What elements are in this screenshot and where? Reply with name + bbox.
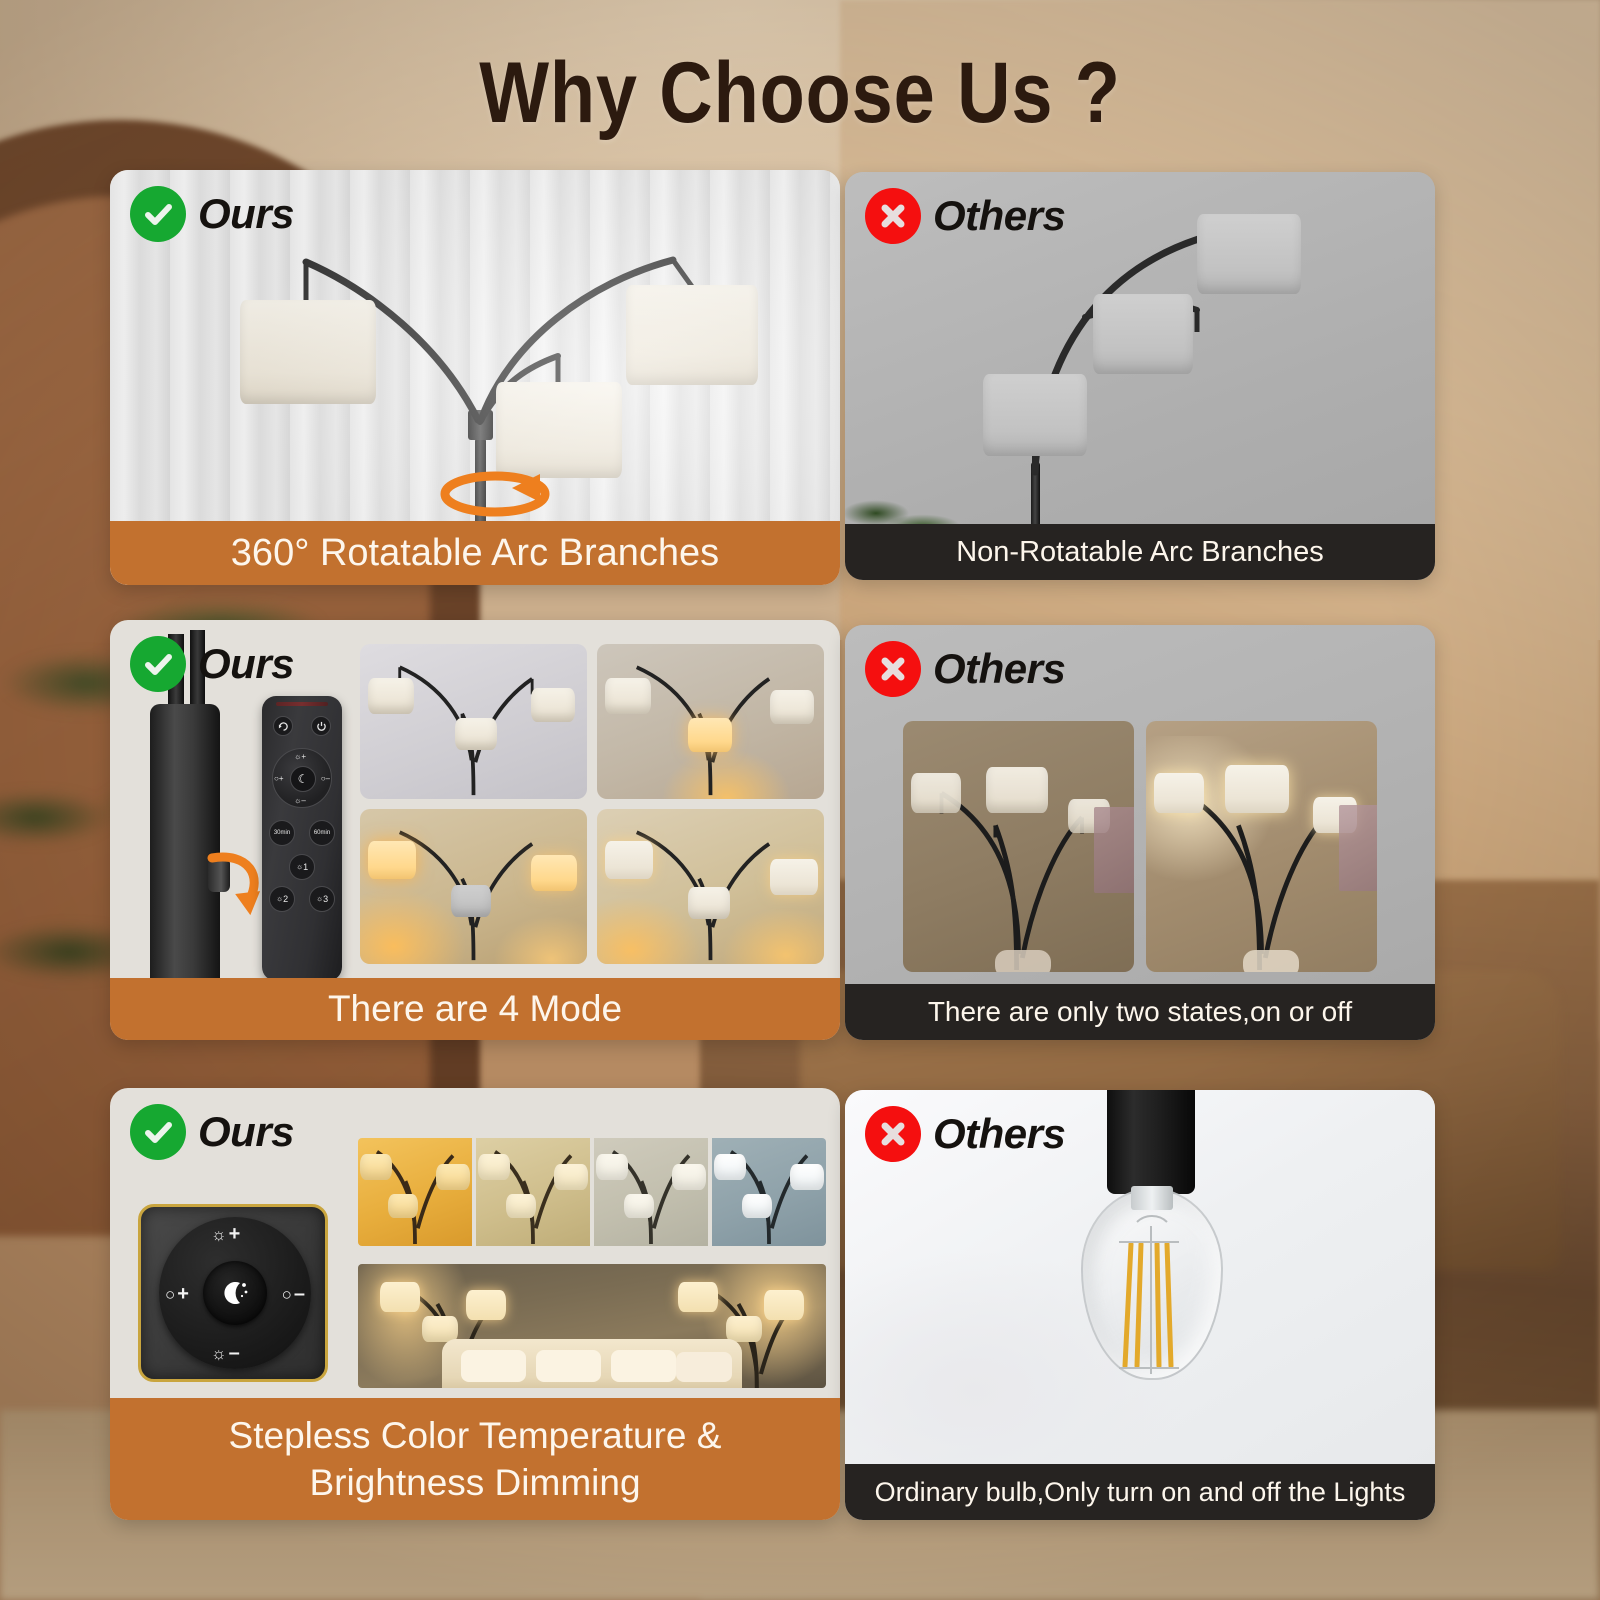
card-ours-stepless-dimming: ☼+ ☼– ○+ ○– [110,1088,840,1520]
badge-ours: Ours [130,636,294,692]
lamp-pole-assembly [142,660,228,1000]
remote-dial[interactable]: ☼+ ☼– ○+ ○– ☾ [272,748,332,808]
remote-brightness-up-icon[interactable]: ☼+ [294,752,306,761]
mode-photo-two-on [360,809,587,964]
remote-ir-window [276,702,328,706]
check-icon [130,636,186,692]
livingroom-photo [358,1264,826,1388]
dimmer-dial-module[interactable]: ☼+ ☼– ○+ ○– [138,1204,328,1382]
mode-photo-all-off [360,644,587,799]
badge-ours-label: Ours [198,1111,294,1153]
mode-photo-all-on [597,809,824,964]
remote-power-cycle-button[interactable] [273,716,293,736]
mode-photo-grid [360,644,824,964]
dial-color-temp-up-icon[interactable]: ○+ [165,1283,189,1306]
remote-mode-1-label: 1 [303,863,308,872]
card-others-nonrotatable: Others Non-Rotatable Arc Branches [845,172,1435,580]
card-others-two-states: Others There are only two states,on or o… [845,625,1435,1040]
cross-icon [865,641,921,697]
badge-ours: Ours [130,186,294,242]
bulb-socket [1107,1090,1195,1194]
dial-brightness-up-icon[interactable]: ☼+ [211,1223,240,1246]
badge-ours-label: Ours [198,193,294,235]
wall-art [1339,805,1377,891]
state-photo-on [1146,721,1377,972]
badge-ours: Ours [130,1104,294,1160]
remote-mode-1-button[interactable]: ☼1 [289,854,315,880]
remote-mode-3-button[interactable]: ☼3 [309,886,335,912]
remote-mode-3-label: 3 [323,895,328,904]
ct-photo-neutral [594,1138,708,1246]
cross-icon [865,188,921,244]
remote-power-button[interactable] [311,716,331,736]
lamp-shade-right [626,285,758,385]
card-ours-rotatable: Ours 360° Rotatable Arc Branches [110,170,840,585]
mode-photo-center-on [597,644,824,799]
state-photo-off [903,721,1134,972]
ct-photo-warm [476,1138,590,1246]
rotation-arrow-icon [430,458,560,528]
caption-ours-rotatable: 360° Rotatable Arc Branches [110,521,840,585]
lamp-shade-left [240,300,376,404]
dimmer-dial[interactable]: ☼+ ☼– ○+ ○– [159,1217,311,1369]
remote-color-temp-down-icon[interactable]: ○– [321,774,330,783]
bulb-base-contact [1131,1186,1173,1210]
remote-control[interactable]: ☼+ ☼– ○+ ○– ☾ 30min 60min ☼1 ☼2 ☼3 [262,696,342,981]
check-icon [130,1104,186,1160]
bulb-filament-icon [1093,1208,1213,1388]
remote-timer-60-label: 60min [314,830,330,836]
two-state-photo-grid [903,721,1377,972]
ct-photo-warmest [358,1138,472,1246]
card-others-ordinary-bulb: Others Ordinary bulb,Only turn on and of… [845,1090,1435,1520]
lamp-shade-bottom [983,374,1087,456]
remote-timer-60-button[interactable]: 60min [309,820,335,846]
sofa-edge [1243,950,1299,972]
dial-brightness-down-icon[interactable]: ☼– [211,1342,240,1365]
remote-mode-2-label: 2 [283,895,288,904]
badge-others-label: Others [933,195,1065,237]
badge-ours-label: Ours [198,643,294,685]
dial-night-mode-moon-icon[interactable] [203,1261,267,1325]
badge-others: Others [865,188,1065,244]
check-icon [130,186,186,242]
color-temperature-strip [358,1138,826,1246]
remote-timer-30-label: 30min [274,830,290,836]
badge-others: Others [865,641,1065,697]
lamp-shade-top [1197,214,1301,294]
lamp-pole-joint [468,410,493,440]
caption-ours-four-modes: There are 4 Mode [110,978,840,1040]
page-title: Why Choose Us ? [112,44,1488,143]
remote-mode-2-button[interactable]: ☼2 [269,886,295,912]
caption-ours-stepless: Stepless Color Temperature & Brightness … [110,1398,840,1520]
dial-color-temp-down-icon[interactable]: ○– [282,1283,305,1306]
badge-others-label: Others [933,648,1065,690]
infographic-canvas: Why Choose Us ? [0,0,1600,1600]
remote-brightness-down-icon[interactable]: ☼– [294,796,306,805]
card-ours-four-modes: ☼+ ☼– ○+ ○– ☾ 30min 60min ☼1 ☼2 ☼3 [110,620,840,1040]
cross-icon [865,1106,921,1162]
sofa-edge [995,950,1051,972]
ct-photo-coolest [712,1138,826,1246]
badge-others-label: Others [933,1113,1065,1155]
wall-art [1094,807,1134,893]
caption-others-two-states: There are only two states,on or off [845,984,1435,1040]
lamp-shade-middle [1093,294,1193,374]
remote-timer-30-button[interactable]: 30min [269,820,295,846]
caption-others-nonrotatable: Non-Rotatable Arc Branches [845,524,1435,580]
remote-color-temp-up-icon[interactable]: ○+ [274,774,284,783]
remote-night-mode-moon-icon[interactable]: ☾ [290,766,316,792]
caption-others-ordinary-bulb: Ordinary bulb,Only turn on and off the L… [845,1464,1435,1520]
badge-others: Others [865,1106,1065,1162]
